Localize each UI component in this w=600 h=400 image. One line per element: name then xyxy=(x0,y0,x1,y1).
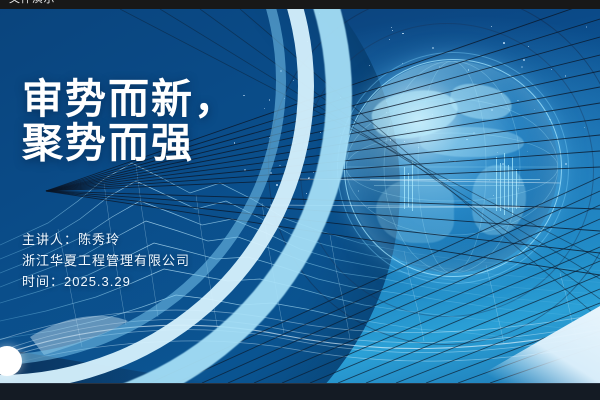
slide-subtitle-block: 主讲人：陈秀玲 浙江华夏工程管理有限公司 时间：2025.3.29 xyxy=(22,229,190,292)
globe-sphere xyxy=(346,61,558,273)
background-arc-shape xyxy=(0,9,400,383)
presentation-window: 文件演示 xyxy=(0,0,600,400)
globe-grid xyxy=(346,61,558,273)
slide-title-line-1: 审势而新， xyxy=(22,77,372,121)
slide-canvas: 审势而新， 聚势而强 主讲人：陈秀玲 浙江华夏工程管理有限公司 时间：2025.… xyxy=(0,9,600,383)
date-line: 时间：2025.3.29 xyxy=(22,271,190,292)
window-bottom-bar xyxy=(0,383,600,400)
slide-title-block: 审势而新， 聚势而强 xyxy=(22,77,372,165)
bottom-right-wedge xyxy=(456,297,600,383)
digital-globe-graphic xyxy=(346,61,558,273)
company-line: 浙江华夏工程管理有限公司 xyxy=(22,250,190,271)
presenter-line: 主讲人：陈秀玲 xyxy=(22,229,190,250)
window-title-text: 文件演示 xyxy=(9,0,55,5)
slide-title-line-2: 聚势而强 xyxy=(22,121,372,165)
window-titlebar: 文件演示 xyxy=(0,0,600,9)
